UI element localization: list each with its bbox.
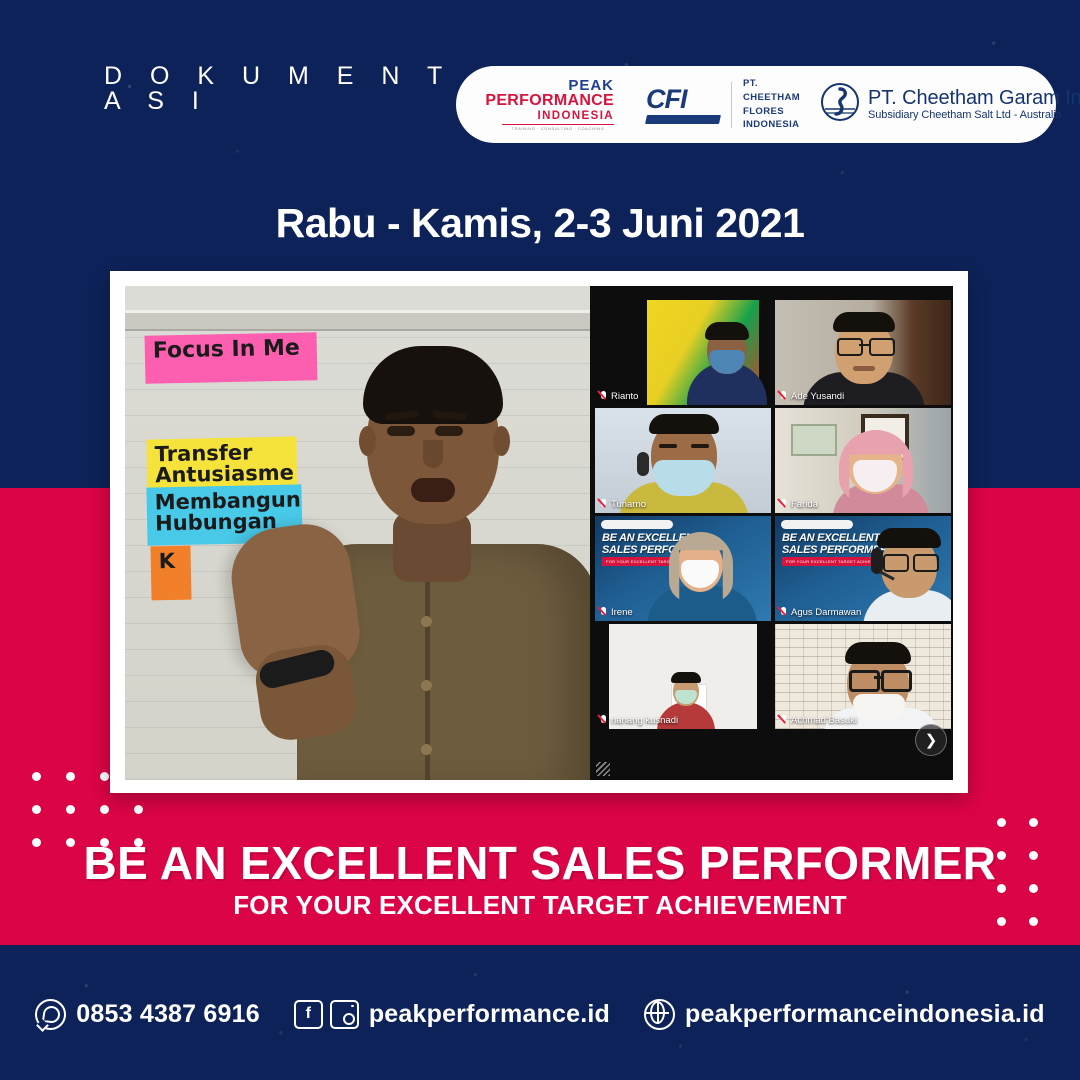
participant-glasses-bridge [874, 676, 881, 679]
mic-muted-icon [599, 391, 607, 402]
website-contact[interactable]: peakperformanceindonesia.id [644, 999, 1045, 1030]
whatsapp-icon [35, 999, 66, 1030]
cfi-mark: CFI [646, 86, 720, 124]
participant-name: Tunarno [611, 499, 646, 510]
participant-name: Irene [611, 607, 633, 618]
tile-wall-poster [791, 424, 837, 456]
trainer-figure [275, 316, 590, 780]
shirt-button [421, 616, 432, 627]
instagram-icon [330, 1000, 359, 1029]
globe-icon [644, 999, 675, 1030]
participant-hair [671, 672, 701, 683]
mic-muted-icon [599, 607, 607, 618]
mic-muted-icon [779, 607, 787, 618]
resize-grip-icon[interactable] [596, 762, 610, 776]
zoom-toolbar-strip [781, 520, 853, 529]
banner-subtitle: FOR YOUR EXCELLENT TARGET ACHIEVEMENT [0, 892, 1080, 918]
whatsapp-contact[interactable]: 0853 4387 6916 [35, 999, 260, 1030]
peak-logo-line3: INDONESIA [538, 109, 615, 123]
shirt-button [421, 680, 432, 691]
logo-divider [731, 82, 732, 128]
shirt-button [421, 744, 432, 755]
participant-name: nanang kusnadi [611, 715, 678, 726]
mic-muted-icon [599, 715, 607, 726]
participant-name: Ade Yusandi [791, 391, 844, 402]
participant-name: Rianto [611, 391, 638, 402]
participant-tile[interactable]: Farida [775, 408, 951, 513]
trainer-nose [423, 440, 443, 468]
participant-name-label: Rianto [599, 391, 638, 402]
phone-number: 0853 4387 6916 [76, 1000, 260, 1029]
vbg-title-line1: BE AN EXCELLENT [782, 532, 880, 544]
participant-tile[interactable]: Ade Yusandi [775, 300, 951, 405]
participant-glasses-right [881, 670, 912, 692]
participant-tile[interactable]: Tunarno [595, 408, 771, 513]
mic-muted-icon [779, 715, 787, 726]
documentation-photo: Focus In Me Transfer Antusiasme Membangu… [125, 286, 953, 780]
cfi-logo: CFI PT. CHEETHAM FLORES INDONESIA [646, 77, 800, 132]
cfi-name-line-0: PT. [743, 77, 800, 91]
cfi-name-line-1: CHEETHAM [743, 91, 800, 105]
participant-mouth [853, 366, 875, 371]
participant-mask [853, 694, 905, 720]
website-url: peakperformanceindonesia.id [685, 1000, 1045, 1029]
participant-name-label: Tunarno [599, 499, 646, 510]
participant-hair [877, 528, 941, 548]
trainer-mouth [411, 478, 455, 502]
participant-tile[interactable]: BE AN EXCELLENT SALES PERFORMER FOR YOUR… [595, 516, 771, 621]
trainer-ear-right [493, 426, 510, 456]
participant-name: Agus Darmawan [791, 607, 861, 618]
participant-name-label: Agus Darmawan [779, 607, 861, 618]
cheetham-seahorse-icon [820, 82, 860, 127]
cheetham-garam-logo: PT. Cheetham Garam Indonesia Subsidiary … [820, 82, 1080, 127]
participant-name: Achmad Basuki [791, 715, 857, 726]
participant-glasses-left [837, 338, 863, 356]
peak-performance-logo: PEAK PERFORMANCE INDONESIA TRAINING · CO… [502, 78, 614, 132]
zoom-toolbar-strip [601, 520, 673, 529]
participant-hair [649, 414, 719, 434]
logo-bar: PEAK PERFORMANCE INDONESIA TRAINING · CO… [456, 66, 1056, 143]
participant-glasses-right [913, 554, 939, 572]
speaker-video-panel: Focus In Me Transfer Antusiasme Membangu… [125, 286, 590, 780]
contact-footer: 0853 4387 6916 f peakperformance.id peak… [0, 985, 1080, 1043]
kicker-label: D O K U M E N T A S I [104, 64, 464, 114]
facebook-icon: f [294, 1000, 323, 1029]
participant-name-label: Ade Yusandi [779, 391, 844, 402]
participant-name-label: nanang kusnadi [599, 715, 678, 726]
participant-hair [845, 642, 911, 664]
participant-headset [637, 452, 649, 476]
chevron-right-icon[interactable]: ❯ [915, 724, 947, 756]
participant-eye-right [691, 444, 709, 448]
participant-glasses-left [883, 554, 909, 572]
trainer-eye-right [435, 426, 463, 436]
zoom-participant-grid: Rianto Ade Yusandi [590, 286, 953, 780]
cfi-name-line-2: FLORES [743, 105, 800, 119]
mic-muted-icon [779, 391, 787, 402]
participant-name-label: Irene [599, 607, 633, 618]
participant-hair [833, 312, 895, 332]
trainer-ear-left [359, 426, 376, 456]
trainer-eye-left [387, 426, 415, 436]
participant-tile[interactable]: nanang kusnadi [595, 624, 771, 729]
social-contact[interactable]: f peakperformance.id [294, 1000, 610, 1029]
participant-glasses-right [869, 338, 895, 356]
mic-muted-icon [779, 499, 787, 510]
cfi-name-line-3: INDONESIA [743, 118, 800, 132]
cheetham-title: PT. Cheetham Garam Indonesia [868, 87, 1080, 109]
participant-name: Farida [791, 499, 818, 510]
participant-hair [705, 322, 749, 340]
cfi-underbar [645, 115, 721, 124]
participant-tile[interactable]: BE AN EXCELLENT SALES PERFORMER FOR YOUR… [775, 516, 951, 621]
participant-name-label: Farida [779, 499, 818, 510]
mic-muted-icon [599, 499, 607, 510]
participant-glasses-bridge [859, 344, 869, 346]
event-date: Rabu - Kamis, 2-3 Juni 2021 [0, 200, 1080, 247]
cheetham-name-block: PT. Cheetham Garam Indonesia Subsidiary … [868, 87, 1080, 123]
sticky-note-partial: K [150, 546, 191, 601]
social-handle: peakperformance.id [369, 1000, 610, 1029]
cfi-name-block: PT. CHEETHAM FLORES INDONESIA [743, 77, 800, 132]
participant-name-label: Achmad Basuki [779, 715, 857, 726]
participant-tile[interactable]: Rianto [595, 300, 771, 405]
cheetham-subtitle: Subsidiary Cheetham Salt Ltd - Australia [868, 109, 1080, 123]
banner-title: BE AN EXCELLENT SALES PERFORMER [0, 840, 1080, 886]
participant-glasses-left [849, 670, 880, 692]
peak-logo-tagline: TRAINING · CONSULTING · COACHING [502, 124, 614, 132]
participant-eye-left [659, 444, 677, 448]
social-icons: f [294, 1000, 359, 1029]
cfi-wordmark: CFI [646, 86, 720, 113]
poster-canvas: D O K U M E N T A S I PEAK PERFORMANCE I… [0, 0, 1080, 1080]
peak-logo-line2: PERFORMANCE [485, 93, 614, 109]
participant-tile[interactable]: Achmad Basuki [775, 624, 951, 729]
peak-logo-line1: PEAK [568, 78, 614, 93]
